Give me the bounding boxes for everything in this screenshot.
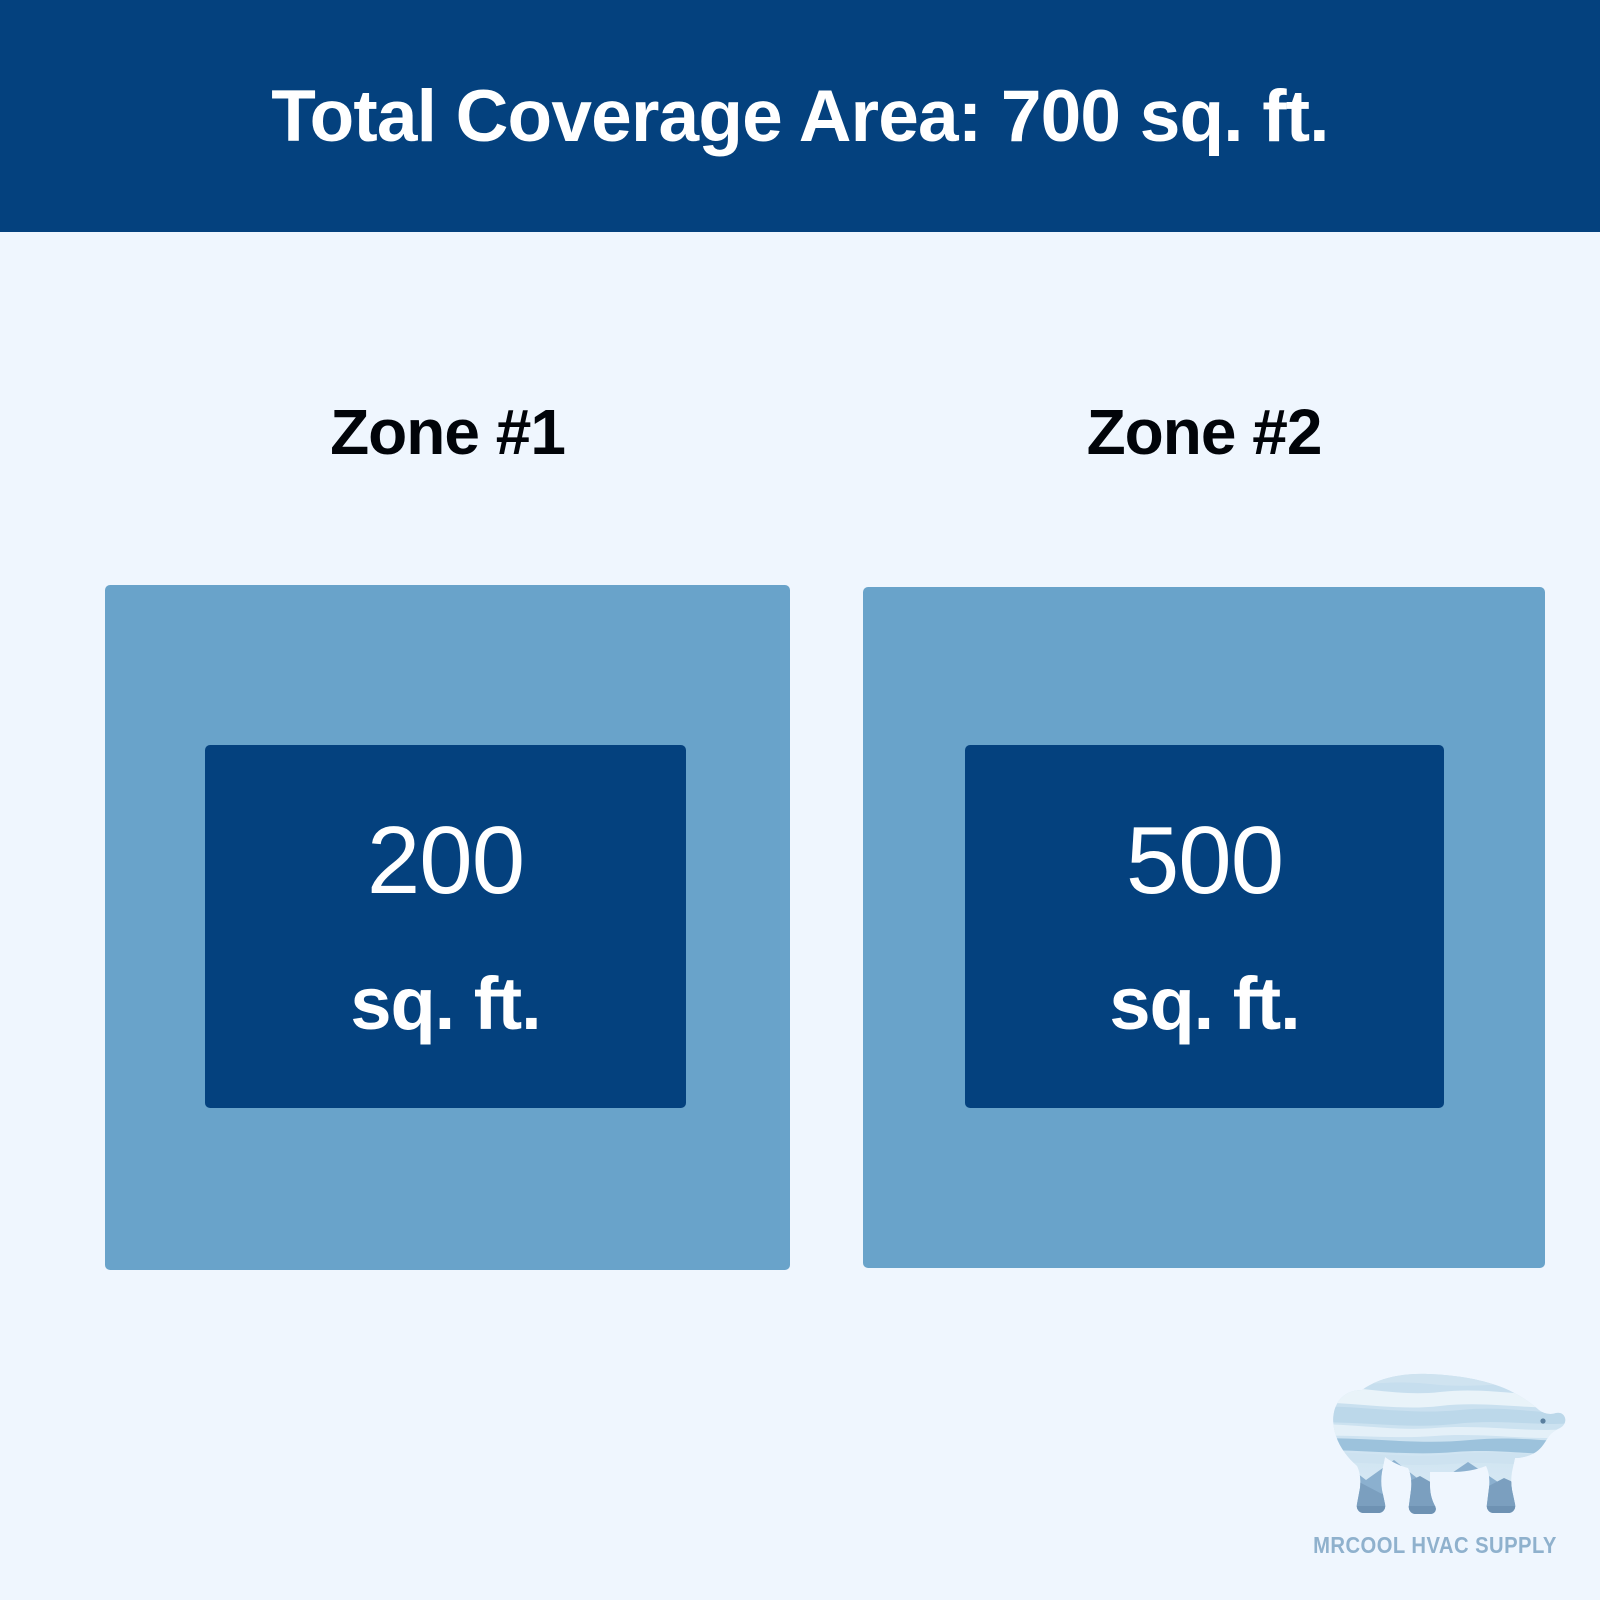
- page-title: Total Coverage Area: 700 sq. ft.: [271, 80, 1329, 153]
- logo-wordmark: MRCOOL HVAC SUPPLY: [1307, 1532, 1562, 1559]
- header-banner: Total Coverage Area: 700 sq. ft.: [0, 0, 1600, 232]
- zone-1-value: 200: [367, 813, 524, 909]
- brand-logo: MRCOOL HVAC SUPPLY: [1290, 1368, 1580, 1583]
- zone-1-label: Zone #1: [105, 400, 790, 464]
- zone-2-inner-area: 500 sq. ft.: [965, 745, 1444, 1108]
- zone-1-unit: sq. ft.: [350, 967, 540, 1041]
- zone-2-unit: sq. ft.: [1109, 967, 1299, 1041]
- zone-2-label: Zone #2: [863, 400, 1545, 464]
- zone-1-inner-area: 200 sq. ft.: [205, 745, 686, 1108]
- zone-2-value: 500: [1126, 813, 1283, 909]
- polar-bear-icon: [1290, 1368, 1580, 1528]
